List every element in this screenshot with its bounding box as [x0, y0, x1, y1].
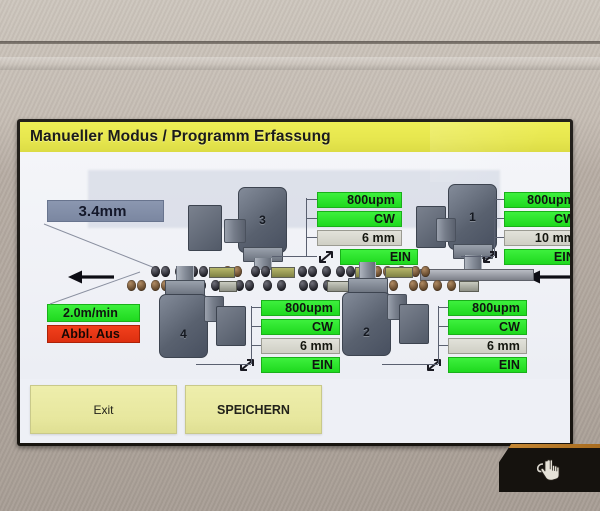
unit-4-tool-size[interactable]: 6 mm	[261, 338, 340, 354]
unit-4-number: 4	[180, 327, 187, 341]
unit-3-neck	[224, 219, 246, 243]
unit-1-stub-2	[494, 218, 504, 219]
housing-ridge	[0, 57, 600, 70]
chain-roller	[298, 266, 307, 277]
unit-3-side-block	[188, 205, 222, 251]
unit-4-state[interactable]: EIN	[261, 357, 340, 373]
unit-2-connector-trunk	[438, 306, 439, 364]
unit-2-graphic[interactable]: 2	[330, 278, 440, 364]
thickness-group: 3.4mm	[47, 200, 164, 222]
diagonal-double-arrow-icon	[238, 357, 257, 373]
unit-3-values: 800upm CW 6 mm EIN	[317, 192, 418, 265]
unit-4-values: 800upm CW 6 mm EIN	[261, 300, 340, 373]
blow-off-value[interactable]: Abbl. Aus	[47, 325, 140, 343]
unit-4-graphic[interactable]: 4	[146, 280, 256, 364]
unit-3-graphic[interactable]: 3	[188, 187, 298, 265]
unit-4-stub-4	[196, 364, 251, 365]
chain-roller	[261, 266, 270, 277]
unit-3-direction[interactable]: CW	[317, 211, 402, 227]
unit-1-number: 1	[469, 210, 476, 224]
save-button[interactable]: SPEICHERN	[185, 385, 322, 434]
unit-1-stub-1	[494, 199, 504, 200]
unit-2-tool-size[interactable]: 6 mm	[448, 338, 527, 354]
unit-3-speed[interactable]: 800upm	[317, 192, 402, 208]
unit-3-connector-trunk	[306, 198, 307, 256]
unit-4-stub-2	[251, 326, 261, 327]
unit-3-number: 3	[259, 213, 266, 227]
housing-seam	[0, 41, 600, 44]
chain-roller	[251, 266, 260, 277]
touch-corner-tab[interactable]	[499, 444, 600, 492]
chain-roller	[308, 266, 317, 277]
unit-2-state[interactable]: EIN	[448, 357, 527, 373]
unit-4-motor-body: 4	[159, 294, 208, 358]
unit-2-speed[interactable]: 800upm	[448, 300, 527, 316]
unit-4-stub-3	[251, 345, 261, 346]
unit-2-stub-2	[438, 326, 448, 327]
chain-roller	[322, 266, 331, 277]
unit-1-values: 800upm CW 10 mm EIN	[504, 192, 570, 265]
page-title: Manueller Modus / Programm Erfassung	[20, 128, 331, 146]
button-bar: Exit SPEICHERN	[20, 379, 570, 443]
chain-roller	[263, 280, 272, 291]
unit-4-side-block	[216, 306, 246, 346]
machine-diagram: 3.4mm 3 800upm CW 6 mm	[20, 152, 570, 379]
chain-link	[459, 281, 479, 292]
unit-4-stub-1	[251, 307, 261, 308]
chain-roller	[421, 266, 430, 277]
unit-1-tool-size[interactable]: 10 mm	[504, 230, 570, 246]
unit-3-stub-3	[306, 237, 317, 238]
thickness-value[interactable]: 3.4mm	[47, 200, 164, 222]
corner-tab-edge	[499, 444, 600, 448]
unit-3-stub-4	[272, 256, 317, 257]
chain-roller	[346, 266, 355, 277]
unit-2-number: 2	[363, 325, 370, 339]
unit-4-connector-trunk	[251, 306, 252, 364]
title-bar: Manueller Modus / Programm Erfassung	[20, 122, 570, 152]
diagonal-double-arrow-icon	[425, 357, 444, 373]
unit-1-stub-4	[461, 256, 494, 257]
screen-bezel: Manueller Modus / Programm Erfassung 3.4…	[17, 119, 573, 446]
unit-2-stub-4	[382, 364, 438, 365]
unit-3-stub-1	[306, 199, 317, 200]
chain-link	[209, 267, 235, 278]
unit-2-stub-3	[438, 345, 448, 346]
unit-1-stub-3	[494, 237, 504, 238]
chain-roller	[277, 280, 286, 291]
unit-2-direction[interactable]: CW	[448, 319, 527, 335]
unit-1-direction[interactable]: CW	[504, 211, 570, 227]
chain-link	[271, 267, 295, 278]
unit-1-neck	[436, 218, 456, 242]
unit-3-stub-2	[306, 218, 317, 219]
unit-4-direction[interactable]: CW	[261, 319, 340, 335]
unit-2-motor-body: 2	[342, 292, 391, 356]
unit-2-side-block	[399, 304, 429, 344]
hmi-screen: Manueller Modus / Programm Erfassung 3.4…	[20, 122, 570, 443]
unit-2-stub-1	[438, 307, 448, 308]
chain-roller	[336, 266, 345, 277]
unit-4-speed[interactable]: 800upm	[261, 300, 340, 316]
unit-1-speed[interactable]: 800upm	[504, 192, 570, 208]
chain-roller	[447, 280, 456, 291]
unit-1-connector-trunk	[494, 198, 495, 256]
exit-button[interactable]: Exit	[30, 385, 177, 434]
unit-2-values: 800upm CW 6 mm EIN	[448, 300, 527, 373]
chain-roller	[309, 280, 318, 291]
chain-link	[385, 267, 413, 278]
unit-3-tool-size[interactable]: 6 mm	[317, 230, 402, 246]
chain-roller	[199, 266, 208, 277]
touch-hand-icon	[535, 458, 565, 482]
chain-roller	[299, 280, 308, 291]
